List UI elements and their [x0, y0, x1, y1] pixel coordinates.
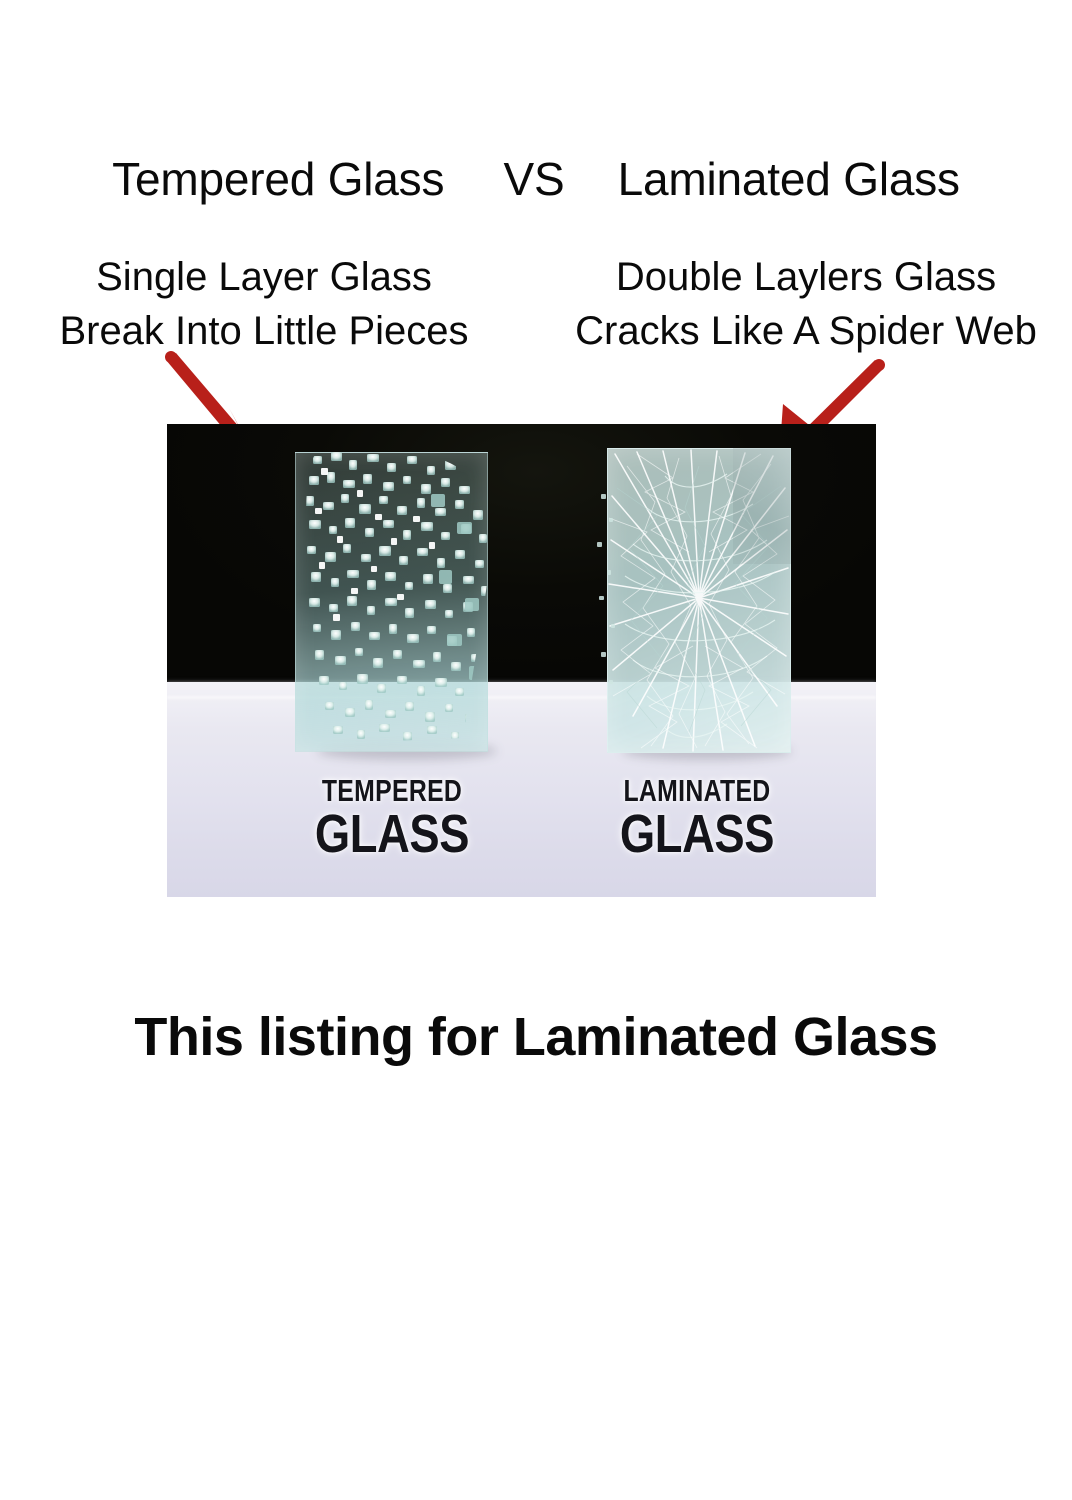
page-title: Tempered Glass VS Laminated Glass: [0, 152, 1072, 206]
listing-note: This listing for Laminated Glass: [0, 1006, 1072, 1068]
photo-caption-tempered-top: TEMPERED: [268, 774, 516, 807]
tempered-fragment-cloud: [279, 438, 511, 768]
title-tempered-glass: Tempered Glass: [112, 152, 444, 206]
glass-comparison-photo: TEMPERED GLASS LAMINATED GLASS: [167, 424, 876, 897]
photo-caption-laminated-bottom: GLASS: [571, 807, 823, 861]
photo-caption-laminated-top: LAMINATED: [577, 774, 817, 807]
laminated-desc-line-1: Double Laylers Glass: [540, 250, 1072, 304]
title-laminated-glass: Laminated Glass: [618, 152, 960, 206]
photo-caption-tempered: TEMPERED GLASS: [237, 774, 547, 861]
tempered-desc-line-1: Single Layer Glass: [0, 250, 528, 304]
laminated-description-column: Double Laylers Glass Cracks Like A Spide…: [540, 250, 1072, 358]
laminated-loose-fragments: [587, 484, 627, 714]
tempered-desc-line-2: Break Into Little Pieces: [0, 304, 528, 358]
laminated-pane-corner-shade: [733, 448, 791, 564]
title-vs-label: VS: [503, 152, 564, 206]
description-row: Single Layer Glass Break Into Little Pie…: [0, 250, 1072, 360]
photo-caption-laminated: LAMINATED GLASS: [547, 774, 847, 861]
photo-caption-tempered-bottom: GLASS: [262, 807, 522, 861]
tempered-description-column: Single Layer Glass Break Into Little Pie…: [0, 250, 528, 358]
laminated-glass-pane: [607, 448, 791, 753]
